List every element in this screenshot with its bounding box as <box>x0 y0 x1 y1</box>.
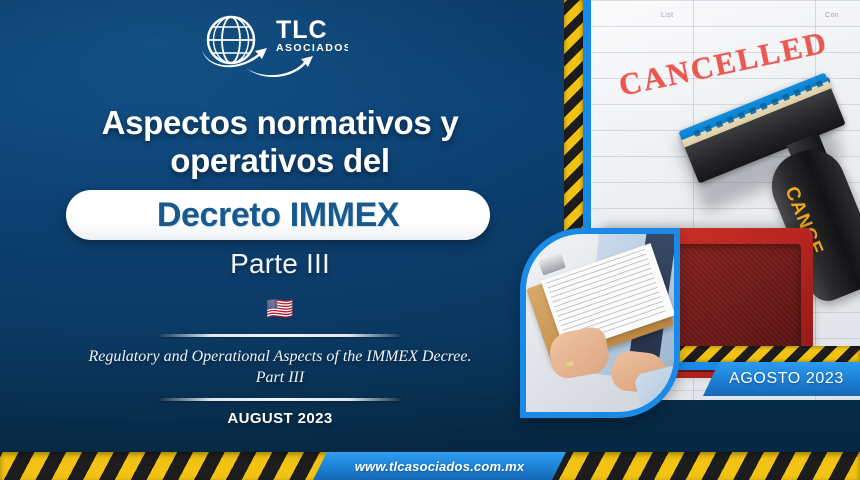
page-title: Aspectos normativos y operativos del <box>30 104 530 179</box>
footer-url-label: www.tlcasociados.com.mx <box>355 460 525 473</box>
title-line-2: operativos del <box>30 142 530 180</box>
svg-text:ASOCIADOS: ASOCIADOS <box>276 42 348 54</box>
subtitle-line-2: Part III <box>30 367 530 388</box>
date-badge-agosto: AGOSTO 2023 <box>703 362 860 396</box>
us-flag-icon: 🇺🇸 <box>30 298 530 320</box>
form-header-con: Con <box>825 12 839 19</box>
divider-bottom <box>157 398 403 401</box>
month-label-english: AUGUST 2023 <box>30 411 530 426</box>
clipboard-clip <box>538 253 566 276</box>
part-label: Parte III <box>30 250 530 278</box>
subtitle-english: Regulatory and Operational Aspects of th… <box>30 346 530 389</box>
footer-url-banner[interactable]: www.tlcasociados.com.mx <box>313 452 566 480</box>
title-line-1: Aspectos normativos y <box>30 104 530 142</box>
highlight-pill: Decreto IMMEX <box>66 190 490 240</box>
promo-banner: List Con CANCELLED CANCE AGOSTO 2023 <box>0 0 860 480</box>
clipboard-inset-photo <box>520 228 680 418</box>
divider-top <box>157 334 403 337</box>
svg-text:TLC: TLC <box>276 16 328 44</box>
date-badge-label: AGOSTO 2023 <box>719 371 844 387</box>
highlight-label: Decreto IMMEX <box>157 198 399 232</box>
subtitle-line-1: Regulatory and Operational Aspects of th… <box>30 346 530 367</box>
tlc-asociados-logo[interactable]: TLC ASOCIADOS <box>188 10 348 82</box>
form-header-list: List <box>661 12 674 19</box>
clipboard-inset-inner <box>526 234 674 412</box>
